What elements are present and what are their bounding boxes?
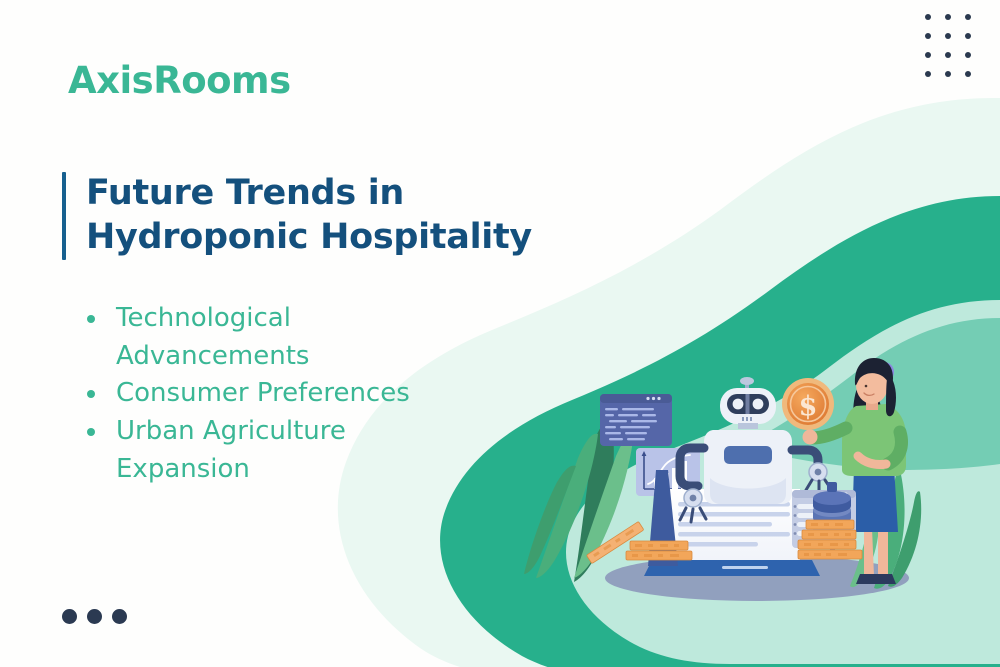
decorative-bottom-dots [62, 609, 127, 624]
bullet-dot-icon [87, 390, 95, 398]
bottom-dot [112, 609, 127, 624]
page-title: Future Trends in Hydroponic Hospitality [86, 172, 532, 260]
slide-canvas: $ [0, 0, 1000, 667]
grid-dot [925, 52, 931, 58]
grid-dot [945, 14, 951, 20]
grid-dot [965, 71, 971, 77]
grid-dot [925, 71, 931, 77]
title-accent-bar [62, 172, 66, 260]
dollar-coin: $ [782, 378, 834, 430]
key-points-list: Technological Advancements Consumer Pref… [78, 300, 478, 488]
grid-dot [925, 33, 931, 39]
page-title-line2: Hydroponic Hospitality [86, 217, 532, 257]
grid-dot [965, 14, 971, 20]
page-title-block: Future Trends in Hydroponic Hospitality [62, 172, 532, 260]
brand-logo[interactable]: AxisRooms [68, 62, 291, 99]
grid-dot [965, 33, 971, 39]
grid-dot [965, 52, 971, 58]
grid-dot [945, 71, 951, 77]
list-item-label: Urban Agriculture Expansion [116, 416, 346, 484]
svg-text:$: $ [799, 391, 818, 422]
decorative-dot-grid [925, 14, 985, 90]
list-item-label: Consumer Preferences [116, 378, 410, 408]
list-item-label: Technological Advancements [116, 303, 309, 371]
grid-dot [945, 33, 951, 39]
list-item: Technological Advancements [78, 300, 478, 375]
bottom-dot [87, 609, 102, 624]
bottom-dot [62, 609, 77, 624]
list-item: Consumer Preferences [78, 375, 478, 413]
grid-dot [945, 52, 951, 58]
page-title-line1: Future Trends in [86, 173, 404, 213]
bullet-dot-icon [87, 315, 95, 323]
bullet-dot-icon [87, 428, 95, 436]
list-item: Urban Agriculture Expansion [78, 413, 478, 488]
grid-dot [925, 14, 931, 20]
code-editor-window [600, 394, 672, 446]
